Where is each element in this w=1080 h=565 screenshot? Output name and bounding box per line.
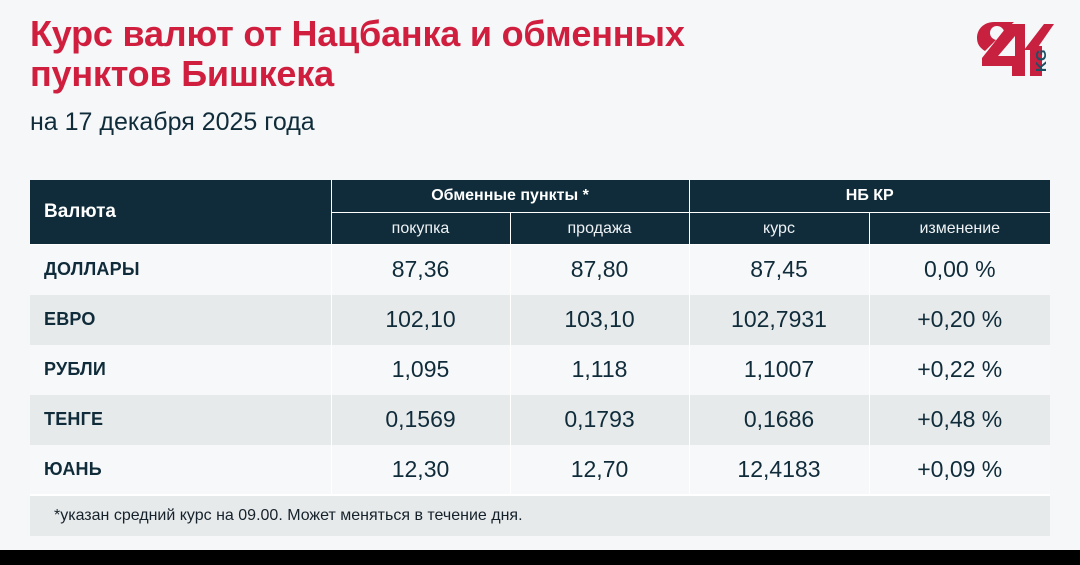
cell-change: +0,48 %: [869, 395, 1050, 445]
cell-rate: 1,1007: [689, 345, 869, 395]
header: Курс валют от Нацбанка и обменных пункто…: [30, 14, 1050, 154]
column-header-sell: продажа: [510, 213, 689, 245]
column-group-exchange-offices: Обменные пункты *: [331, 180, 689, 213]
table-row: ДОЛЛАРЫ 87,36 87,80 87,45 0,00 %: [30, 245, 1050, 295]
cell-sell: 12,70: [510, 445, 689, 495]
cell-buy: 0,1569: [331, 395, 510, 445]
logo-kg-text: KG: [1033, 50, 1050, 73]
cell-buy: 12,30: [331, 445, 510, 495]
table-row: ЕВРО 102,10 103,10 102,7931 +0,20 %: [30, 295, 1050, 345]
logo-24kg-icon: KG: [974, 20, 1054, 82]
column-header-rate: курс: [689, 213, 869, 245]
brand-logo-24kg: KG: [974, 20, 1054, 82]
page-subtitle: на 17 декабря 2025 года: [30, 108, 1050, 136]
cell-buy: 1,095: [331, 345, 510, 395]
cell-sell: 1,118: [510, 345, 689, 395]
page-title: Курс валют от Нацбанка и обменных пункто…: [30, 14, 730, 94]
column-header-buy: покупка: [331, 213, 510, 245]
table-row: ТЕНГЕ 0,1569 0,1793 0,1686 +0,48 %: [30, 395, 1050, 445]
cell-change: +0,20 %: [869, 295, 1050, 345]
table-footnote: *указан средний курс на 09.00. Может мен…: [30, 495, 1050, 536]
cell-buy: 102,10: [331, 295, 510, 345]
cell-sell: 103,10: [510, 295, 689, 345]
cell-currency: ДОЛЛАРЫ: [30, 245, 331, 295]
cell-rate: 102,7931: [689, 295, 869, 345]
cell-currency: ЮАНЬ: [30, 445, 331, 495]
cell-rate: 87,45: [689, 245, 869, 295]
table-row: РУБЛИ 1,095 1,118 1,1007 +0,22 %: [30, 345, 1050, 395]
cell-change: +0,22 %: [869, 345, 1050, 395]
cell-buy: 87,36: [331, 245, 510, 295]
cell-currency: ТЕНГЕ: [30, 395, 331, 445]
column-header-currency: Валюта: [30, 180, 331, 245]
infographic-page: Курс валют от Нацбанка и обменных пункто…: [0, 0, 1080, 565]
table-body: ДОЛЛАРЫ 87,36 87,80 87,45 0,00 % ЕВРО 10…: [30, 245, 1050, 495]
bottom-bar: [0, 550, 1080, 565]
table-footer: *указан средний курс на 09.00. Может мен…: [30, 495, 1050, 536]
cell-currency: ЕВРО: [30, 295, 331, 345]
cell-change: +0,09 %: [869, 445, 1050, 495]
column-header-change: изменение: [869, 213, 1050, 245]
cell-sell: 0,1793: [510, 395, 689, 445]
table-header: Валюта Обменные пункты * НБ КР покупка п…: [30, 180, 1050, 245]
column-group-national-bank: НБ КР: [689, 180, 1050, 213]
exchange-rates-table: Валюта Обменные пункты * НБ КР покупка п…: [30, 180, 1050, 536]
table-row: ЮАНЬ 12,30 12,70 12,4183 +0,09 %: [30, 445, 1050, 495]
cell-sell: 87,80: [510, 245, 689, 295]
cell-rate: 0,1686: [689, 395, 869, 445]
cell-change: 0,00 %: [869, 245, 1050, 295]
cell-currency: РУБЛИ: [30, 345, 331, 395]
cell-rate: 12,4183: [689, 445, 869, 495]
